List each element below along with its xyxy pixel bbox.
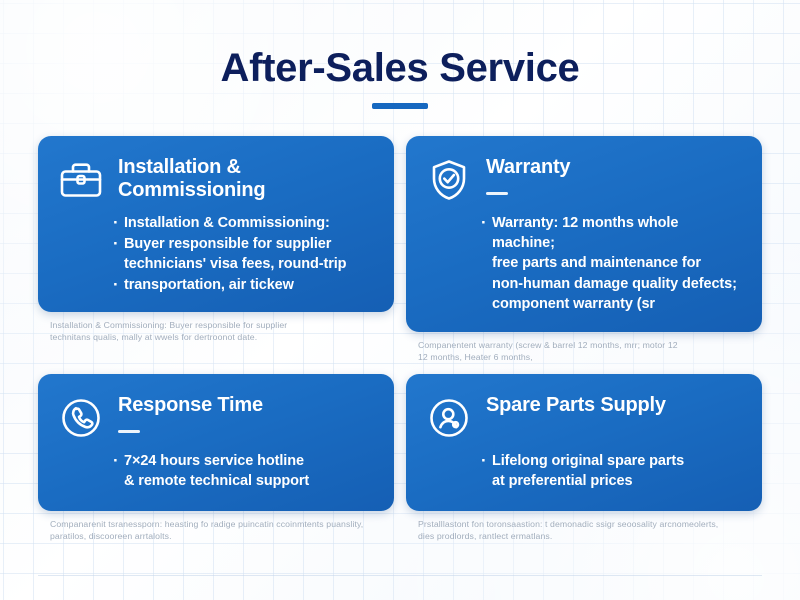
bullet-item: Lifelong original spare parts: [481, 452, 744, 472]
bottom-divider: [38, 575, 762, 576]
card-column-installation-commissioning: Installation & Commissioning Installatio…: [38, 136, 394, 363]
card-installation-commissioning[interactable]: Installation & Commissioning Installatio…: [38, 136, 394, 312]
caption-line: Companentent warranty (screw & barrel 12…: [418, 339, 758, 351]
card-header: Installation & Commissioning: [56, 154, 376, 205]
card-header: Response Time: [56, 392, 376, 443]
card-head-text: Response Time: [118, 392, 376, 433]
card-caption-installation-commissioning: Installation & Commissioning: Buyer resp…: [50, 319, 390, 343]
card-column-warranty: Warranty Warranty: 12 months whole machi…: [406, 136, 762, 363]
card-column-spare-parts-supply: Spare Parts Supply Lifelong original spa…: [406, 374, 762, 542]
person-circle-icon: [424, 393, 474, 443]
caption-line: Installation & Commissioning: Buyer resp…: [50, 319, 390, 331]
card-caption-warranty: Companentent warranty (screw & barrel 12…: [418, 339, 758, 363]
card-bullet-list: 7×24 hours service hotline & remote tech…: [56, 452, 376, 492]
card-header: Warranty: [424, 154, 744, 205]
caption-line: Companarenit tsranessporn: heasting fo r…: [50, 518, 390, 530]
card-column-response-time: Response Time 7×24 hours service hotline…: [38, 374, 394, 542]
card-title: Warranty: [486, 156, 744, 179]
card-caption-spare-parts-supply: Prstalllastont fon toronsaastion: t demo…: [418, 518, 758, 542]
slide-root: After-Sales Service: [0, 0, 800, 600]
bullet-item: Buyer responsible for supplier: [113, 235, 376, 255]
card-bullet-list: Installation & Commissioning: Buyer resp…: [56, 214, 376, 295]
card-spare-parts-supply[interactable]: Spare Parts Supply Lifelong original spa…: [406, 374, 762, 511]
card-head-text: Warranty: [486, 154, 744, 195]
caption-line: 12 months, Heater 6 months,: [418, 351, 758, 363]
bullet-item: 7×24 hours service hotline: [113, 452, 376, 472]
card-title: Response Time: [118, 394, 376, 417]
bullet-item: Warranty: 12 months whole machine;: [481, 214, 744, 253]
toolbox-icon: [56, 155, 106, 205]
card-response-time[interactable]: Response Time 7×24 hours service hotline…: [38, 374, 394, 511]
caption-line: technitans qualis, mally at wwels for de…: [50, 331, 390, 343]
slide-header: After-Sales Service: [0, 44, 800, 109]
card-title: Spare Parts Supply: [486, 394, 744, 417]
bullet-item: & remote technical support: [113, 472, 376, 492]
caption-line: dies prodlords, rantlect ermatlans.: [418, 530, 758, 542]
card-bullet-list: Lifelong original spare parts at prefere…: [424, 452, 744, 492]
card-warranty[interactable]: Warranty Warranty: 12 months whole machi…: [406, 136, 762, 332]
bullet-item: transportation, air tickew: [113, 276, 376, 296]
cards-row-top: Installation & Commissioning Installatio…: [38, 136, 762, 363]
bullet-item: non-human damage quality defects;: [481, 275, 744, 295]
title-underline-accent: [372, 103, 428, 109]
cards-grid: Installation & Commissioning Installatio…: [38, 136, 762, 542]
caption-line: paratilos, discooreen arrtalolts.: [50, 530, 390, 542]
card-bullet-list: Warranty: 12 months whole machine; free …: [424, 214, 744, 315]
bullet-item: at preferential prices: [481, 472, 744, 492]
card-header: Spare Parts Supply: [424, 392, 744, 443]
cards-row-bottom: Response Time 7×24 hours service hotline…: [38, 374, 762, 542]
caption-line: Prstalllastont fon toronsaastion: t demo…: [418, 518, 758, 530]
card-title-dash: [486, 192, 508, 195]
bullet-item: technicians' visa fees, round-trip: [113, 255, 376, 275]
shield-check-icon: [424, 155, 474, 205]
card-title: Installation & Commissioning: [118, 156, 376, 202]
phone-circle-icon: [56, 393, 106, 443]
bullet-item: Installation & Commissioning:: [113, 214, 376, 234]
card-head-text: Spare Parts Supply: [486, 392, 744, 417]
bullet-item: component warranty (sr: [481, 295, 744, 315]
card-head-text: Installation & Commissioning: [118, 154, 376, 202]
bullet-item: free parts and maintenance for: [481, 254, 744, 274]
card-caption-response-time: Companarenit tsranessporn: heasting fo r…: [50, 518, 390, 542]
card-title-dash: [118, 430, 140, 433]
page-title: After-Sales Service: [0, 44, 800, 92]
